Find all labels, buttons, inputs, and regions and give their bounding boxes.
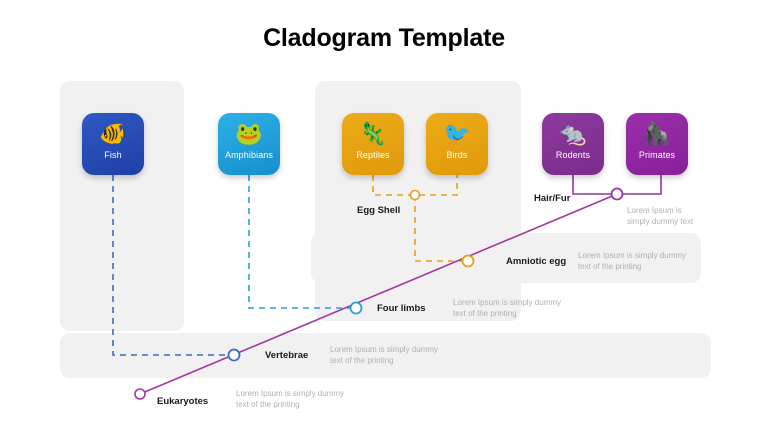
rat-icon: 🐀 <box>559 122 586 146</box>
clade-desc-amniotic-egg: Lorem Ipsum is simply dummy text of the … <box>578 250 686 272</box>
clade-label-amniotic-egg: Amniotic egg <box>506 256 566 267</box>
clade-desc-four-limbs: Lorem Ipsum is simply dummy text of the … <box>453 297 561 319</box>
taxon-label-amphibians: Amphibians <box>225 150 273 160</box>
clade-label-vertebrae: Vertebrae <box>265 350 308 361</box>
clade-label-hair-fur: Hair/Fur <box>534 193 570 204</box>
node-eukaryotes[interactable] <box>135 389 145 399</box>
taxon-card-primates[interactable]: 🦍 Primates <box>626 113 688 175</box>
taxon-card-reptiles[interactable]: 🦎 Reptiles <box>342 113 404 175</box>
taxon-card-fish[interactable]: 🐠 Fish <box>82 113 144 175</box>
clade-label-egg-shell: Egg Shell <box>357 205 400 216</box>
lizard-icon: 🦎 <box>359 122 386 146</box>
frog-icon: 🐸 <box>235 122 262 146</box>
taxon-card-rodents[interactable]: 🐀 Rodents <box>542 113 604 175</box>
clade-desc-hair-fur: Lorem Ipsum is simply dummy text <box>627 205 693 227</box>
bird-icon: 🐦 <box>443 122 470 146</box>
gorilla-icon: 🦍 <box>643 122 670 146</box>
page-title: Cladogram Template <box>0 24 768 53</box>
taxon-label-primates: Primates <box>639 150 675 160</box>
node-hair-fur[interactable] <box>612 189 623 200</box>
clade-label-four-limbs: Four limbs <box>377 303 426 314</box>
wire-rodents-primates-bracket <box>573 175 661 194</box>
clade-desc-vertebrae: Lorem Ipsum is simply dummy text of the … <box>330 344 438 366</box>
clade-desc-eukaryotes: Lorem Ipsum is simply dummy text of the … <box>236 388 344 410</box>
taxon-label-fish: Fish <box>104 150 121 160</box>
taxon-card-amphibians[interactable]: 🐸 Amphibians <box>218 113 280 175</box>
taxon-label-birds: Birds <box>446 150 467 160</box>
taxon-label-reptiles: Reptiles <box>356 150 389 160</box>
taxon-label-rodents: Rodents <box>556 150 590 160</box>
cladogram-canvas: Cladogram Template 🐠 Fish 🐸 Amphibians <box>0 0 768 432</box>
clade-label-eukaryotes: Eukaryotes <box>157 396 208 407</box>
clownfish-icon: 🐠 <box>99 122 126 146</box>
taxon-card-birds[interactable]: 🐦 Birds <box>426 113 488 175</box>
